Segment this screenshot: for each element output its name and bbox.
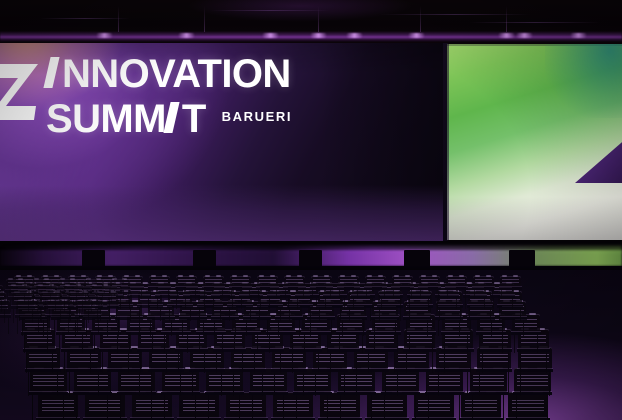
brand-city-label: BARUERI <box>222 109 292 124</box>
chair-back-slat <box>112 285 128 286</box>
chair-rim-light <box>232 275 237 277</box>
truss-glint <box>570 33 587 38</box>
chair-leg <box>187 335 188 353</box>
auditorium-chair <box>6 279 26 304</box>
ceiling-bar <box>210 10 330 11</box>
chair-back-slat <box>112 282 128 283</box>
chair-rim-light <box>394 275 399 277</box>
chair-leg <box>111 293 112 303</box>
chair-back-slat <box>86 282 102 283</box>
chair-leg <box>327 335 328 353</box>
chair-leg <box>280 352 281 373</box>
stage-speaker <box>193 250 216 267</box>
chair-rim-light <box>286 275 291 277</box>
chair-leg <box>342 320 343 336</box>
auditorium-chair <box>500 276 521 300</box>
ceiling-rig-drop <box>204 6 205 32</box>
chair-leg <box>470 352 471 373</box>
chair-leg <box>222 290 223 299</box>
chair-back <box>230 276 251 287</box>
chair-leg <box>371 395 372 420</box>
chair-rim-light <box>367 275 372 277</box>
chair-leg <box>64 352 65 373</box>
auditorium-chair <box>311 276 332 300</box>
chair-back-slat <box>205 282 222 283</box>
chair-leg <box>246 320 247 336</box>
chair-back <box>338 276 359 287</box>
chair-leg <box>276 290 277 299</box>
chair-back-slat <box>502 282 519 283</box>
side-led-screen <box>447 44 622 240</box>
chair-leg <box>519 290 520 299</box>
chair-back <box>84 279 104 290</box>
chair-leg <box>221 372 222 396</box>
chair-leg <box>107 395 108 420</box>
chair-rim-light <box>96 278 101 280</box>
chair-leg <box>204 290 205 299</box>
chair-leg <box>549 372 550 396</box>
chair-leg <box>503 395 504 420</box>
chair-back <box>58 279 78 290</box>
chair-leg <box>166 352 167 373</box>
chair-leg <box>82 335 83 353</box>
chair-back-slat <box>259 282 276 283</box>
chair-leg <box>520 308 521 321</box>
chair-back <box>392 276 413 287</box>
chair-back <box>365 276 386 287</box>
chair-leg <box>32 395 33 420</box>
chair-back-slat <box>178 282 195 283</box>
chair-rim-light <box>189 275 194 277</box>
chair-back-slat <box>286 282 303 283</box>
chair-back-slat <box>340 279 357 280</box>
chair-leg <box>319 308 320 321</box>
chair-leg <box>242 352 243 373</box>
chair-back-slat <box>286 279 303 280</box>
truss-glint <box>516 33 533 38</box>
chair-rim-light <box>86 278 91 280</box>
chair-leg <box>164 395 165 420</box>
chair-leg <box>357 290 358 299</box>
screen-bottom-glow <box>0 185 445 241</box>
chair-leg <box>397 372 398 396</box>
chair-leg <box>8 318 9 334</box>
chair-rim-light <box>112 278 117 280</box>
chair-leg <box>52 352 53 373</box>
chair-rim-light <box>54 275 59 277</box>
truss-glint <box>262 33 279 38</box>
chair-rim-light <box>16 275 21 277</box>
chair-rim-light <box>324 275 329 277</box>
auditorium-chair <box>392 276 413 300</box>
chair-leg <box>432 352 433 373</box>
auditorium-chair <box>84 279 104 304</box>
chair-back-slat <box>34 285 50 286</box>
chair-back <box>203 276 224 287</box>
chair-leg <box>150 320 151 336</box>
chair-back <box>110 279 130 290</box>
chair-leg <box>195 290 196 299</box>
chair-leg <box>368 352 369 373</box>
chair-rim-light <box>340 275 345 277</box>
chair-leg <box>76 293 77 303</box>
chair-leg <box>459 320 460 336</box>
chair-leg <box>444 335 445 353</box>
chair-leg <box>491 320 492 336</box>
chair-leg <box>366 290 367 299</box>
chair-leg <box>432 335 433 353</box>
chair-rim-light <box>124 275 129 277</box>
chair-leg <box>310 320 311 336</box>
chair-leg <box>139 372 140 396</box>
chair-back-slat <box>178 279 195 280</box>
chair-leg <box>374 335 375 353</box>
chair-leg <box>292 352 293 373</box>
chair-leg <box>269 335 270 353</box>
chair-leg <box>32 309 33 323</box>
chair-leg <box>331 320 332 336</box>
brand-line-summit-row: SUMMT BARUERI <box>46 99 292 140</box>
chair-rim-light <box>43 275 48 277</box>
chair-leg <box>208 395 209 420</box>
chair-leg <box>118 320 119 336</box>
chair-leg <box>24 335 25 353</box>
chair-leg <box>430 308 431 321</box>
truss-glint <box>498 33 515 38</box>
chair-leg <box>444 352 445 373</box>
chair-leg <box>395 320 396 336</box>
chair-rim-light <box>405 275 410 277</box>
chair-leg <box>374 320 375 336</box>
chair-back <box>6 279 26 290</box>
truss-glint <box>310 33 327 38</box>
chair-rim-light <box>243 275 248 277</box>
chair-rim-light <box>448 275 453 277</box>
chair-leg <box>467 372 468 396</box>
chair-leg <box>164 335 165 353</box>
chair-leg <box>252 395 253 420</box>
chair-leg <box>82 300 83 312</box>
chair-leg <box>267 320 268 336</box>
chair-rim-light <box>44 278 49 280</box>
chair-rim-light <box>216 275 221 277</box>
chair-leg <box>339 290 340 299</box>
chair-rim-light <box>313 275 318 277</box>
chair-leg <box>508 372 509 396</box>
chair-leg <box>182 320 183 336</box>
chair-leg <box>349 308 350 321</box>
auditorium-chair <box>419 276 440 300</box>
chair-leg <box>116 309 117 323</box>
ceiling-rig-drop <box>318 6 319 32</box>
chair-rim-light <box>8 278 13 280</box>
chair-rim-light <box>205 275 210 277</box>
chair-leg <box>283 395 284 420</box>
chair-back <box>32 279 52 290</box>
ceiling-rig-drop <box>506 6 507 32</box>
brand-line-innovation: NNOVATION <box>46 55 292 94</box>
chair-leg <box>393 290 394 299</box>
chair-back <box>500 276 521 287</box>
chair-leg <box>128 293 129 303</box>
chair-leg <box>38 318 39 334</box>
auditorium-chair <box>58 279 78 304</box>
chair-back-slat <box>421 282 438 283</box>
ceiling-bar <box>470 22 600 23</box>
chair-leg <box>467 335 468 353</box>
chair-rim-light <box>270 275 275 277</box>
chair-leg <box>26 352 27 373</box>
chair-leg <box>285 290 286 299</box>
auditorium-chair <box>284 276 305 300</box>
chair-back-slat <box>475 279 492 280</box>
chair-leg <box>150 290 151 299</box>
chair-leg <box>459 395 460 420</box>
main-led-screen: NNOVATION SUMMT BARUERI <box>0 43 445 241</box>
chair-leg <box>120 395 121 420</box>
chair-leg <box>195 395 196 420</box>
chair-leg <box>59 293 60 303</box>
chair-leg <box>28 300 29 312</box>
side-screen-teal-glow <box>545 44 622 118</box>
chair-leg <box>339 335 340 353</box>
chair-leg <box>152 335 153 353</box>
auditorium-chair <box>257 276 278 300</box>
chair-back-slat <box>259 279 276 280</box>
chair-leg <box>28 372 29 396</box>
stage-speaker <box>82 250 105 267</box>
auditorium-chair <box>338 276 359 300</box>
chair-leg <box>523 320 524 336</box>
chair-leg <box>330 290 331 299</box>
chair-rim-light <box>151 275 156 277</box>
chair-leg <box>257 335 258 353</box>
chair-back-slat <box>367 279 384 280</box>
chair-leg <box>304 335 305 353</box>
chair-leg <box>415 395 416 420</box>
chair-leg <box>406 320 407 336</box>
chair-back-slat <box>394 282 411 283</box>
chair-leg <box>199 335 200 353</box>
chair-leg <box>356 352 357 373</box>
chair-back <box>473 276 494 287</box>
chair-leg <box>231 290 232 299</box>
chair-leg <box>50 293 51 303</box>
chair-leg <box>204 352 205 373</box>
side-screen-triangle-accent <box>575 129 622 183</box>
chair-leg <box>384 290 385 299</box>
chair-rim-light <box>513 275 518 277</box>
chair-leg <box>438 290 439 299</box>
chair-rim-light <box>529 313 536 315</box>
chair-back <box>419 276 440 287</box>
truss-glint <box>346 33 363 38</box>
chair-leg <box>239 395 240 420</box>
chair-leg <box>249 290 250 299</box>
truss-glint <box>178 33 195 38</box>
chair-back-slat <box>232 282 249 283</box>
brand-line2-prefix: SUMM <box>46 97 166 141</box>
ceiling-bar <box>40 18 130 19</box>
chair-seat <box>0 290 1 293</box>
chair-leg <box>394 352 395 373</box>
chair-leg <box>482 352 483 373</box>
chair-rim-light <box>475 275 480 277</box>
chair-leg <box>102 352 103 373</box>
chair-leg <box>178 352 179 373</box>
chair-leg <box>234 335 235 353</box>
chair-leg <box>110 372 111 396</box>
chair-rim-light <box>502 275 507 277</box>
chair-leg <box>447 290 448 299</box>
chair-leg <box>330 352 331 373</box>
chair-leg <box>235 320 236 336</box>
ceiling-bar <box>380 14 530 15</box>
chair-rim-light <box>34 278 39 280</box>
auditorium-chair <box>32 279 52 304</box>
chair-leg <box>192 372 193 396</box>
z-bolt-logo-icon <box>0 56 42 152</box>
chair-leg <box>139 320 140 336</box>
chair-rim-light <box>178 275 183 277</box>
chair-back-slat <box>313 282 330 283</box>
chair-rim-light <box>70 278 75 280</box>
chair-leg <box>214 320 215 336</box>
chair-leg <box>479 372 480 396</box>
chair-leg <box>274 372 275 396</box>
chair-back-slat <box>151 279 168 280</box>
chair-leg <box>33 293 34 303</box>
chair-back-slat <box>8 282 24 283</box>
chair-back-slat <box>313 279 330 280</box>
chair-leg <box>94 335 95 353</box>
chair-leg <box>171 320 172 336</box>
chair-leg <box>508 352 509 373</box>
chair-rim-light <box>97 275 102 277</box>
slashed-i-icon-2 <box>166 102 182 133</box>
brand-line2-suffix: T <box>182 97 206 141</box>
chair-back-slat <box>60 285 76 286</box>
auditorium-photo: NNOVATION SUMMT BARUERI <box>0 0 622 420</box>
chair-back-slat <box>205 279 222 280</box>
chair-leg <box>520 352 521 373</box>
chair-leg <box>90 352 91 373</box>
chair-leg <box>502 320 503 336</box>
auditorium-chair <box>110 279 130 304</box>
chair-back-slat <box>232 279 249 280</box>
chair-back-slat <box>8 285 24 286</box>
chair-leg <box>472 395 473 420</box>
auditorium-chair <box>149 276 170 300</box>
chair-rim-light <box>162 275 167 277</box>
chair-leg <box>258 290 259 299</box>
chair-leg <box>385 372 386 396</box>
auditorium-chair <box>176 276 197 300</box>
chair-leg <box>177 290 178 299</box>
chair-back-slat <box>475 282 492 283</box>
chair-leg <box>363 320 364 336</box>
chair-back-slat <box>34 282 50 283</box>
chair-leg <box>406 352 407 373</box>
truss-glint <box>96 33 113 38</box>
chair-leg <box>428 395 429 420</box>
chair-rim-light <box>459 275 464 277</box>
chair-rim-light <box>432 275 437 277</box>
auditorium-chair <box>203 276 224 300</box>
chair-back <box>176 276 197 287</box>
chair-rim-light <box>81 275 86 277</box>
chair-back-slat <box>502 279 519 280</box>
chair-leg <box>69 372 70 396</box>
chair-leg <box>356 372 357 396</box>
chair-back <box>149 276 170 287</box>
chair-rim-light <box>297 275 302 277</box>
chair-rim-light <box>70 275 75 277</box>
chair-leg <box>520 372 521 396</box>
chair-rim-light <box>378 275 383 277</box>
chair-leg <box>303 372 304 396</box>
auditorium-chair <box>230 276 251 300</box>
chair-back-slat <box>151 282 168 283</box>
chair-leg <box>516 395 517 420</box>
chair-leg <box>470 320 471 336</box>
chair-rim-light <box>421 275 426 277</box>
chair-leg <box>59 335 60 353</box>
chair-leg <box>76 395 77 420</box>
chair-leg <box>1 300 2 312</box>
chair-leg <box>128 352 129 373</box>
chair-back-slat <box>367 282 384 283</box>
chair-leg <box>102 293 103 303</box>
chair-leg <box>47 335 48 353</box>
chair-rim-light <box>27 275 32 277</box>
chair-leg <box>438 372 439 396</box>
stage-speaker <box>299 250 322 267</box>
brand-line-summit: SUMMT <box>46 99 206 140</box>
chair-leg <box>312 290 313 299</box>
chair-leg <box>7 293 8 303</box>
chair-leg <box>514 335 515 353</box>
chair-leg <box>547 395 548 420</box>
ceiling-rig-drop <box>420 6 421 32</box>
chair-leg <box>492 290 493 299</box>
chair-rim-light <box>60 278 65 280</box>
chair-leg <box>460 308 461 321</box>
stage-speaker <box>404 250 430 267</box>
auditorium-chair <box>446 276 467 300</box>
chair-leg <box>427 320 428 336</box>
chair-rim-light <box>108 275 113 277</box>
chair-leg <box>318 352 319 373</box>
chair-leg <box>140 352 141 373</box>
chair-leg <box>222 335 223 353</box>
chair-leg <box>327 395 328 420</box>
chair-back-slat <box>86 285 102 286</box>
chair-leg <box>501 290 502 299</box>
chair-leg <box>479 335 480 353</box>
chair-back-slat <box>448 279 465 280</box>
brand-line1-text: NNOVATION <box>62 55 291 94</box>
chair-leg <box>180 372 181 396</box>
chair-leg <box>490 308 491 321</box>
chair-leg <box>420 290 421 299</box>
chair-leg <box>55 300 56 312</box>
chair-rim-light <box>135 275 140 277</box>
chair-leg <box>88 309 89 323</box>
chair-rim-light <box>122 278 127 280</box>
chair-leg <box>151 395 152 420</box>
chair-back-slat <box>421 279 438 280</box>
